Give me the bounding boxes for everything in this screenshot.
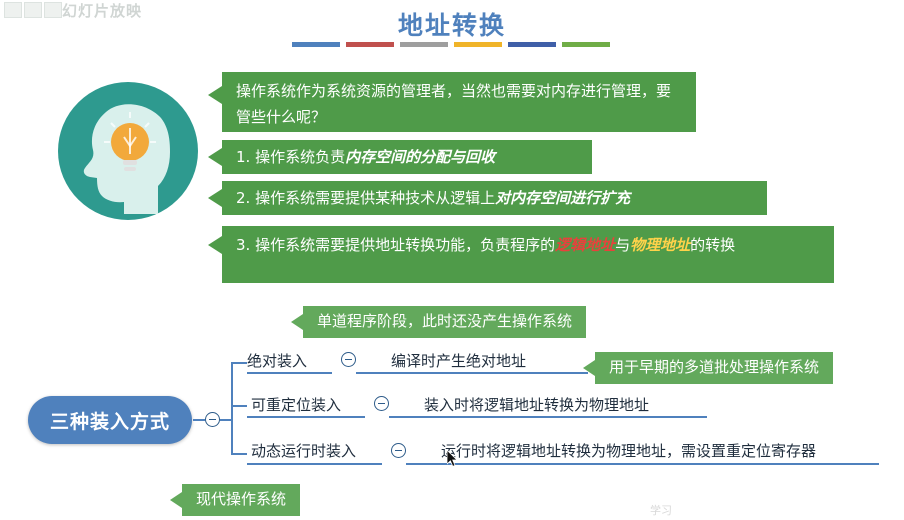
branch-3-label[interactable]: 动态运行时装入: [251, 440, 356, 461]
mindmap-root-label: 三种装入方式: [50, 407, 170, 434]
title-rule-segment: [562, 42, 610, 47]
branch-3-connector: [231, 453, 247, 455]
watermark: 学习: [650, 502, 672, 518]
tag-tail: [291, 314, 303, 330]
branch-2-desc[interactable]: 装入时将逻辑地址转换为物理地址: [424, 394, 649, 415]
branch-3-underline: [247, 463, 382, 465]
branch-2-desc-underline: [389, 416, 707, 418]
branch-1-label[interactable]: 绝对装入: [247, 350, 307, 371]
slide-canvas: 幻灯片放映 地址转换: [0, 0, 904, 520]
callout-point-3-logical: 逻辑地址: [555, 236, 615, 254]
callout-tail: [208, 86, 222, 104]
head-with-lightbulb-icon: [58, 82, 200, 220]
branch-2-connector: [231, 405, 247, 407]
branch-1-desc[interactable]: 编译时产生绝对地址: [391, 350, 526, 371]
title-rule-segment: [400, 42, 448, 47]
callout-tail: [208, 189, 222, 207]
branch-1-connector: [231, 362, 247, 364]
title-rule-segment: [454, 42, 502, 47]
tag-modern-os-text: 现代操作系统: [196, 490, 286, 508]
tag-tail: [170, 492, 182, 508]
callout-point-1-prefix: 1. 操作系统负责: [236, 148, 345, 166]
callout-intro: 操作系统作为系统资源的管理者，当然也需要对内存进行管理，要管些什么呢？: [222, 72, 696, 132]
mouse-cursor: [447, 450, 459, 468]
callout-point-2-prefix: 2. 操作系统需要提供某种技术从逻辑上: [236, 189, 495, 207]
root-connector-line: [193, 419, 205, 421]
callout-tail: [208, 148, 222, 166]
callout-point-2-emphasis: 对内存空间进行扩充: [495, 189, 630, 207]
callout-tail: [208, 236, 222, 254]
branch-2-underline: [247, 416, 365, 418]
branch-3-desc[interactable]: 运行时将逻辑地址转换为物理地址，需设置重定位寄存器: [441, 440, 816, 461]
title-rule-segment: [508, 42, 556, 47]
branch-1-underline: [247, 372, 332, 374]
mindmap-root-node[interactable]: 三种装入方式: [28, 396, 192, 444]
branch-2-label[interactable]: 可重定位装入: [251, 394, 341, 415]
tag-early-batch: 用于早期的多道批处理操作系统: [595, 352, 833, 384]
branch-3-desc-underline: [406, 463, 879, 465]
page-title: 地址转换: [0, 6, 904, 42]
callout-point-3-prefix: 3. 操作系统需要提供地址转换功能，负责程序的: [236, 236, 555, 254]
branch-3-collapse-icon[interactable]: [391, 443, 406, 458]
title-rule-row: [292, 42, 612, 48]
callout-point-3-mid: 与: [615, 236, 630, 254]
callout-point-2: 2. 操作系统需要提供某种技术从逻辑上对内存空间进行扩充: [222, 181, 767, 215]
callout-point-1: 1. 操作系统负责内存空间的分配与回收: [222, 140, 592, 174]
title-rule-segment: [292, 42, 340, 47]
callout-point-1-emphasis: 内存空间的分配与回收: [345, 148, 495, 166]
tag-single-program: 单道程序阶段，此时还没产生操作系统: [303, 306, 586, 338]
root-collapse-icon[interactable]: [205, 412, 220, 427]
title-rule-segment: [346, 42, 394, 47]
callout-point-3-suffix: 的转换: [690, 236, 735, 254]
branch-2-collapse-icon[interactable]: [374, 396, 389, 411]
tag-early-batch-text: 用于早期的多道批处理操作系统: [609, 358, 819, 376]
branch-1-desc-underline: [356, 372, 588, 374]
branch-1-collapse-icon[interactable]: [341, 352, 356, 367]
callout-point-3: 3. 操作系统需要提供地址转换功能，负责程序的逻辑地址与物理地址的转换: [222, 226, 834, 283]
callout-intro-text: 操作系统作为系统资源的管理者，当然也需要对内存进行管理，要管些什么呢？: [236, 82, 671, 126]
callout-point-3-physical: 物理地址: [630, 236, 690, 254]
tag-single-program-text: 单道程序阶段，此时还没产生操作系统: [317, 312, 572, 330]
branch-spine: [231, 363, 233, 455]
head-profile-icon: [58, 82, 200, 220]
tag-modern-os: 现代操作系统: [182, 484, 300, 516]
